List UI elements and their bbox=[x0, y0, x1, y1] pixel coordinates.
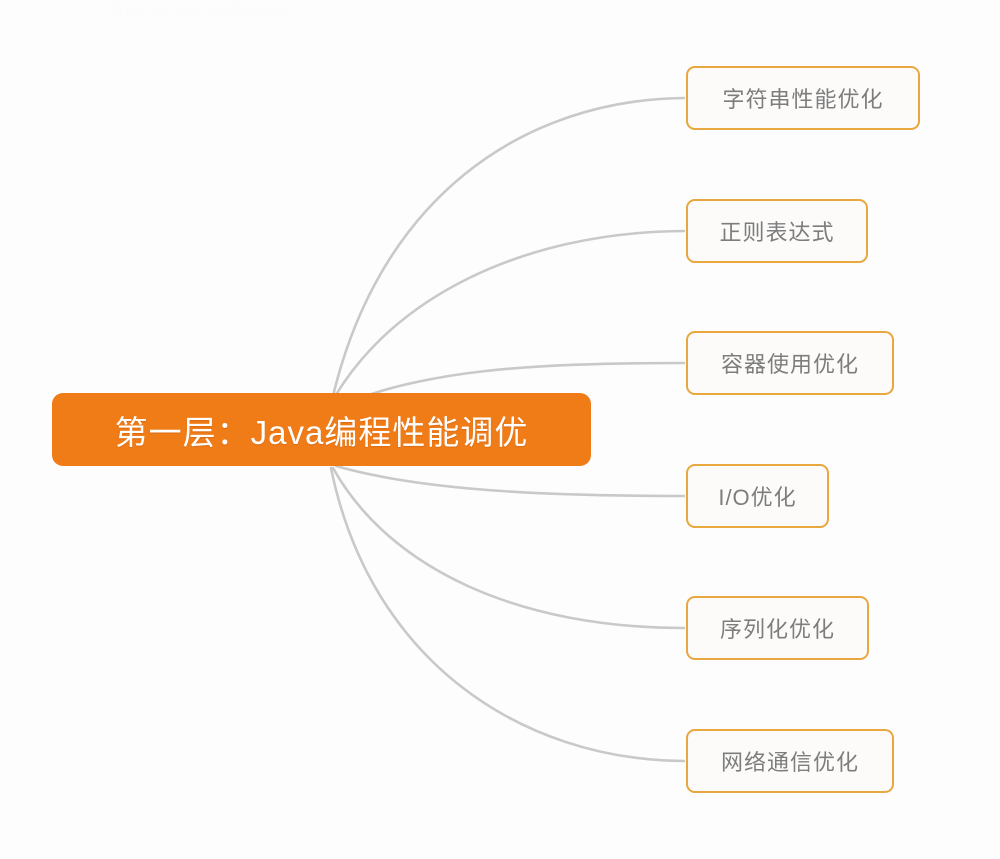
root-node[interactable]: 第一层：Java编程性能调优 bbox=[52, 393, 591, 466]
connector-to-branch-5 bbox=[331, 468, 684, 761]
branch-node-label: I/O优化 bbox=[718, 480, 796, 512]
branch-node-label: 正则表达式 bbox=[719, 215, 834, 247]
connector-to-branch-1 bbox=[333, 231, 684, 400]
branch-node-label: 网络通信优化 bbox=[721, 745, 859, 777]
branch-node-io-optimization[interactable]: I/O优化 bbox=[686, 464, 829, 528]
branch-node-network-communication[interactable]: 网络通信优化 bbox=[686, 729, 894, 793]
mindmap-canvas: 极客时间 Java性能调优实战 第一层：Java编程性能调优 字符串性能优化 正… bbox=[0, 0, 1000, 859]
branch-node-container-usage[interactable]: 容器使用优化 bbox=[686, 331, 894, 395]
root-node-label: 第一层：Java编程性能调优 bbox=[115, 406, 529, 454]
connector-to-branch-0 bbox=[333, 98, 684, 396]
branch-node-label: 序列化优化 bbox=[720, 612, 835, 644]
connector-to-branch-3 bbox=[336, 466, 684, 496]
branch-node-regular-expression[interactable]: 正则表达式 bbox=[686, 199, 868, 263]
branch-node-label: 容器使用优化 bbox=[721, 347, 859, 379]
branch-node-string-performance[interactable]: 字符串性能优化 bbox=[686, 66, 920, 130]
branch-node-serialization[interactable]: 序列化优化 bbox=[686, 596, 869, 660]
branch-node-label: 字符串性能优化 bbox=[722, 82, 883, 114]
